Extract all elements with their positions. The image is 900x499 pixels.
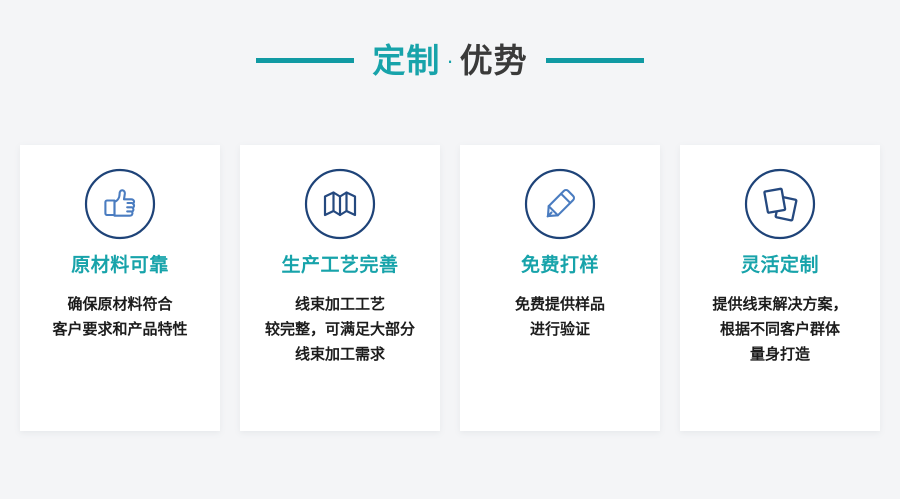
page-title: 定制 · 优势 [372, 44, 527, 77]
feature-card-body: 确保原材料符合 客户要求和产品特性 [44, 292, 195, 342]
feature-card-body-line: 根据不同客户群体 [712, 317, 847, 342]
page-title-separator: · [446, 50, 453, 72]
folded-map-icon [303, 167, 377, 241]
section-header: 定制 · 优势 [0, 0, 900, 110]
feature-card-body-line: 确保原材料符合 [52, 292, 187, 317]
feature-card[interactable]: 原材料可靠 确保原材料符合 客户要求和产品特性 [20, 145, 220, 431]
header-rule-right [546, 58, 644, 63]
feature-card-title: 原材料可靠 [71, 255, 169, 278]
feature-card-title: 灵活定制 [741, 255, 819, 278]
feature-card-body: 线束加工工艺 较完整，可满足大部分 线束加工需求 [257, 292, 423, 368]
feature-card-title: 生产工艺完善 [281, 255, 398, 278]
feature-card[interactable]: 生产工艺完善 线束加工工艺 较完整，可满足大部分 线束加工需求 [240, 145, 440, 431]
page-title-secondary: 优势 [460, 44, 528, 77]
feature-card-list: 原材料可靠 确保原材料符合 客户要求和产品特性 生产工艺完善 线束加工工艺 较完… [20, 145, 880, 431]
feature-card-body-line: 免费提供样品 [515, 292, 605, 317]
pencil-icon [523, 167, 597, 241]
page-title-accent: 定制 [372, 44, 440, 77]
thumbs-up-icon [83, 167, 157, 241]
feature-card-body-line: 较完整，可满足大部分 [265, 317, 415, 342]
feature-card-body: 提供线束解决方案， 根据不同客户群体 量身打造 [704, 292, 855, 368]
feature-card-body-line: 进行验证 [515, 317, 605, 342]
feature-card-body-line: 线束加工工艺 [265, 292, 415, 317]
stacked-cards-icon [743, 167, 817, 241]
feature-card-body-line: 线束加工需求 [265, 342, 415, 367]
feature-card-body-line: 量身打造 [712, 342, 847, 367]
feature-card-title: 免费打样 [521, 255, 599, 278]
feature-card[interactable]: 灵活定制 提供线束解决方案， 根据不同客户群体 量身打造 [680, 145, 880, 431]
header-rule-left [256, 58, 354, 63]
feature-card[interactable]: 免费打样 免费提供样品 进行验证 [460, 145, 660, 431]
feature-card-body-line: 提供线束解决方案， [712, 292, 847, 317]
feature-card-body-line: 客户要求和产品特性 [52, 317, 187, 342]
feature-card-body: 免费提供样品 进行验证 [507, 292, 613, 342]
